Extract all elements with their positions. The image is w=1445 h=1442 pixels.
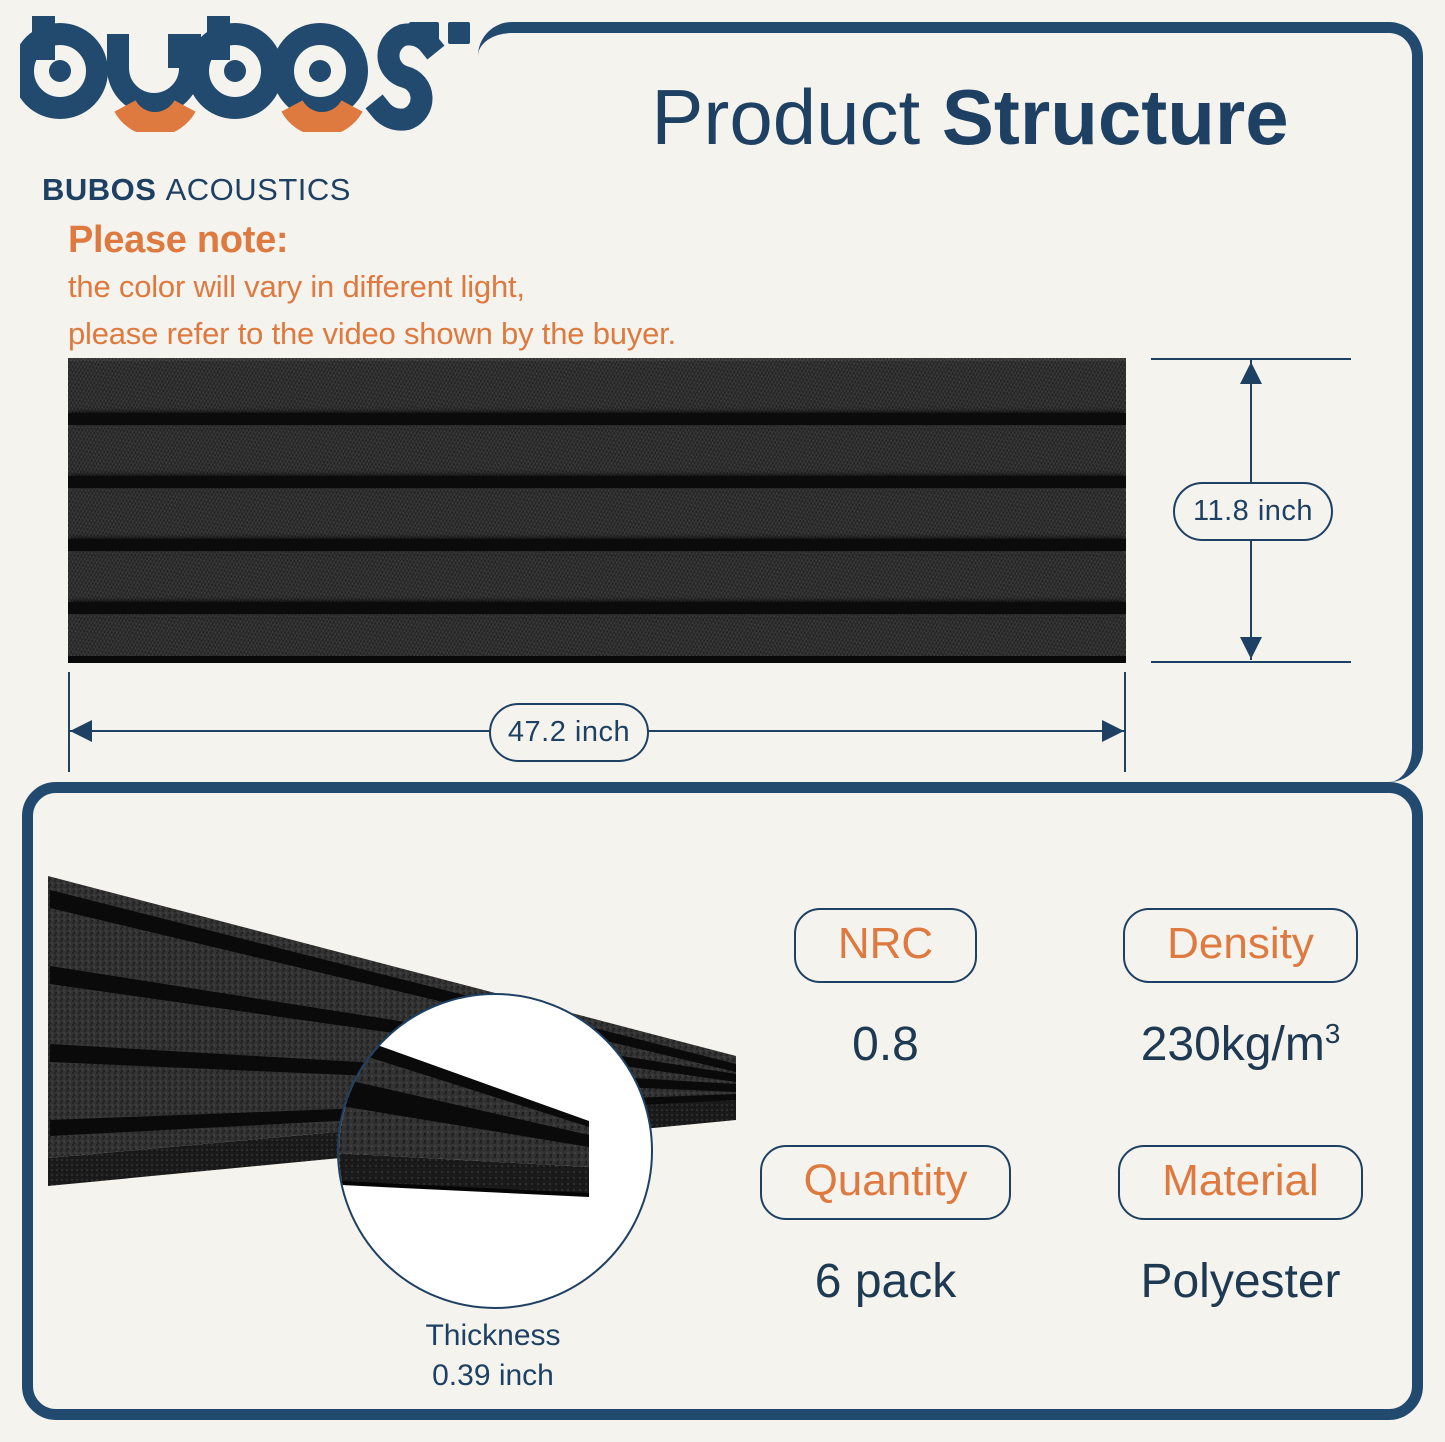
panel-groove [68, 602, 1126, 614]
spec-cell-nrc: NRC 0.8 [718, 908, 1053, 1111]
spec-value-density-sup: 3 [1325, 1018, 1340, 1049]
dim-extension-right [1124, 672, 1126, 772]
dim-extension-bottom [1151, 661, 1351, 663]
arrow-down-icon [1240, 637, 1262, 659]
product-infographic: BUBOS ACOUSTICS Product Structure Please… [0, 0, 1445, 1442]
specifications-grid: NRC 0.8 Density 230kg/m3 Quantity 6 pack… [718, 908, 1408, 1348]
thickness-label: Thickness [337, 1316, 649, 1356]
note-line-1: the color will vary in different light, [68, 263, 888, 310]
height-dimension-text: 11.8 inch [1193, 495, 1313, 528]
spec-value-material-text: Polyester [1140, 1255, 1340, 1308]
brand-sub-bold: BUBOS [42, 172, 156, 207]
page-title-light: Product [651, 73, 941, 161]
note-heading: Please note: [68, 218, 888, 263]
spec-cell-density: Density 230kg/m3 [1073, 908, 1408, 1111]
arrow-up-icon [1240, 362, 1262, 384]
note-line-2: please refer to the video shown by the b… [68, 310, 888, 357]
logo-dash-mark [409, 22, 439, 44]
spec-cell-material: Material Polyester [1073, 1145, 1408, 1348]
width-dimension-text: 47.2 inch [508, 716, 630, 749]
spec-label-quantity: Quantity [760, 1145, 1012, 1220]
panel-groove [68, 476, 1126, 488]
thickness-value: 0.39 inch [337, 1356, 649, 1396]
arrow-left-icon [70, 720, 92, 742]
spec-value-material: Polyester [1140, 1258, 1340, 1306]
width-dimension-label: 47.2 inch [489, 703, 649, 762]
panel-groove [68, 413, 1126, 425]
spec-value-density-text: 230kg/m [1141, 1018, 1325, 1071]
arrow-right-icon [1102, 720, 1124, 742]
height-dimension-label: 11.8 inch [1173, 482, 1333, 541]
magnifier-circle-icon [337, 993, 653, 1309]
acoustic-panel-front-view [68, 358, 1126, 663]
brand-subtitle: BUBOS ACOUSTICS [42, 172, 351, 208]
spec-value-nrc-text: 0.8 [852, 1018, 919, 1071]
brand-sub-light: ACOUSTICS [166, 172, 351, 207]
spec-label-material: Material [1118, 1145, 1363, 1220]
panel-bottom-edge [68, 656, 1126, 663]
page-title: Product Structure [560, 78, 1380, 156]
page-title-bold: Structure [942, 73, 1289, 161]
spec-label-nrc: NRC [794, 908, 977, 983]
panel-texture [68, 358, 1126, 663]
please-note-block: Please note: the color will vary in diff… [68, 218, 888, 357]
panel-groove [68, 539, 1126, 551]
spec-value-nrc: 0.8 [852, 1021, 919, 1069]
spec-value-quantity: 6 pack [815, 1258, 956, 1306]
logo-dash-mark [448, 22, 470, 44]
spec-cell-quantity: Quantity 6 pack [718, 1145, 1053, 1348]
spec-value-density: 230kg/m3 [1141, 1021, 1341, 1069]
spec-value-quantity-text: 6 pack [815, 1255, 956, 1308]
thickness-callout: Thickness 0.39 inch [337, 1316, 649, 1395]
spec-label-density: Density [1123, 908, 1358, 983]
